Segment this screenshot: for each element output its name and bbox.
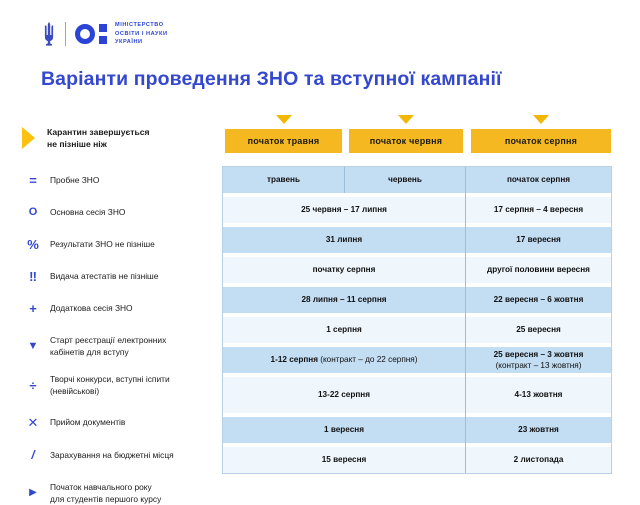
table-cell-august: 22 вересня – 6 жовтня [465, 287, 611, 313]
slash-icon: / [22, 449, 44, 461]
table-row: початку серпнядругої половини вересня [223, 257, 611, 283]
logo-text-line3: УКРАЇНИ [115, 38, 168, 47]
schedule-table: травеньчервеньпочаток серпня25 червня – … [222, 166, 612, 474]
quarantine-text: Карантин завершується не пізніше ніж [47, 126, 150, 151]
legend-item-6: ÷Творчі конкурси, вступні іспити(невійсь… [22, 373, 218, 397]
table-row: 15 вересня2 листопада [223, 447, 611, 473]
table-row: 28 липня – 11 серпня22 вересня – 6 жовтн… [223, 287, 611, 313]
page-title: Варіанти проведення ЗНО та вступної камп… [41, 68, 502, 91]
column-header-august[interactable]: початок серпня [471, 115, 611, 153]
table-cell-merged: 1-12 серпня (контракт – до 22 серпня) [223, 347, 465, 373]
legend-item-label: Старт реєстрації електроннихкабінетів дл… [50, 334, 166, 358]
table-cell-merged: 13-22 серпня [223, 377, 465, 413]
ministry-logo: МІНІСТЕРСТВО ОСВІТИ І НАУКИ УКРАЇНИ [41, 18, 168, 50]
equals-icon: = [22, 174, 44, 187]
legend-item-2: %Результати ЗНО не пізніше [22, 238, 218, 251]
table-row: 13-22 серпня4-13 жовтня [223, 377, 611, 413]
quarantine-label: Карантин завершується не пізніше ніж [22, 126, 150, 151]
legend-item-1: OОсновна сесія ЗНО [22, 206, 218, 218]
table-cell-august: 25 вересня [465, 317, 611, 343]
legend-item-label: Творчі конкурси, вступні іспити(невійськ… [50, 373, 170, 397]
legend-item-label: Зарахування на бюджетні місця [50, 449, 174, 461]
table-header-cell: травень [223, 167, 344, 193]
logo-divider [65, 22, 66, 46]
mon-logo-mark [75, 24, 107, 44]
column-header-june[interactable]: початок червня [349, 115, 463, 153]
legend-item-label: Додаткова сесія ЗНО [50, 302, 133, 314]
quarantine-line1: Карантин завершується [47, 126, 150, 138]
table-header-row: травеньчервеньпочаток серпня [223, 167, 611, 193]
logo-circle-icon [75, 24, 95, 44]
table-cell-august: 2 листопада [465, 447, 611, 473]
logo-squares-icon [99, 24, 107, 44]
table-cell-merged: 25 червня – 17 липня [223, 197, 465, 223]
legend-item-label: Результати ЗНО не пізніше [50, 238, 155, 250]
table-row: 31 липня17 вересня [223, 227, 611, 253]
right-triangle-icon [22, 127, 35, 149]
down-triangle-icon [398, 115, 414, 124]
table-cell-merged: 31 липня [223, 227, 465, 253]
quarantine-line2: не пізніше ніж [47, 138, 150, 150]
circle-o-icon: O [22, 207, 44, 218]
divide-icon: ÷ [22, 379, 44, 392]
legend-item-label: Видача атестатів не пізніше [50, 270, 158, 282]
legend-item-label: Прийом документів [50, 416, 125, 428]
table-row: 25 червня – 17 липня17 серпня – 4 вересн… [223, 197, 611, 223]
table-cell-august: 25 вересня – 3 жовтня(контракт – 13 жовт… [465, 347, 611, 373]
legend-item-label: Основна сесія ЗНО [50, 206, 125, 218]
table-row: 1 вересня23 жовтня [223, 417, 611, 443]
table-cell-merged: початку серпня [223, 257, 465, 283]
legend-item-5: ▼Старт реєстрації електроннихкабінетів д… [22, 334, 218, 358]
table-row: 1 серпня25 вересня [223, 317, 611, 343]
table-cell-august: другої половини вересня [465, 257, 611, 283]
bookmark-icon: ▼ [22, 341, 44, 352]
play-triangle-icon: ▶ [22, 488, 44, 498]
table-header-cell: червень [344, 167, 465, 193]
logo-text: МІНІСТЕРСТВО ОСВІТИ І НАУКИ УКРАЇНИ [115, 21, 168, 47]
table-cell-merged: 1 серпня [223, 317, 465, 343]
table-cell-merged: 1 вересня [223, 417, 465, 443]
legend-item-label: Початок навчального рокудля студентів пе… [50, 481, 161, 505]
legend-item-7: ✕Прийом документів [22, 416, 218, 429]
table-header-cell: початок серпня [465, 167, 611, 193]
column-button-label[interactable]: початок серпня [471, 129, 611, 153]
down-triangle-icon [276, 115, 292, 124]
table-cell-august: 4-13 жовтня [465, 377, 611, 413]
legend-item-9: ▶Початок навчального рокудля студентів п… [22, 481, 218, 505]
table-cell-august: 17 вересня [465, 227, 611, 253]
legend-item-3: ‼Видача атестатів не пізніше [22, 270, 218, 283]
table-cell-merged: 15 вересня [223, 447, 465, 473]
table-cell-august: 23 жовтня [465, 417, 611, 443]
table-cell-august: 17 серпня – 4 вересня [465, 197, 611, 223]
trident-icon [41, 21, 57, 47]
double-exclamation-icon: ‼ [22, 270, 44, 283]
legend-item-8: /Зарахування на бюджетні місця [22, 449, 218, 461]
plus-icon: + [22, 302, 44, 315]
percent-icon: % [22, 238, 44, 251]
table-cell-merged: 28 липня – 11 серпня [223, 287, 465, 313]
down-triangle-icon [533, 115, 549, 124]
logo-text-line2: ОСВІТИ І НАУКИ [115, 30, 168, 39]
logo-text-line1: МІНІСТЕРСТВО [115, 21, 168, 30]
legend-item-0: =Пробне ЗНО [22, 174, 218, 187]
column-button-label[interactable]: початок червня [349, 129, 463, 153]
multiply-icon: ✕ [22, 416, 44, 429]
legend-item-label: Пробне ЗНО [50, 174, 99, 186]
column-header-may[interactable]: початок травня [225, 115, 342, 153]
legend-item-4: +Додаткова сесія ЗНО [22, 302, 218, 315]
column-button-label[interactable]: початок травня [225, 129, 342, 153]
table-row: 1-12 серпня (контракт – до 22 серпня)25 … [223, 347, 611, 373]
